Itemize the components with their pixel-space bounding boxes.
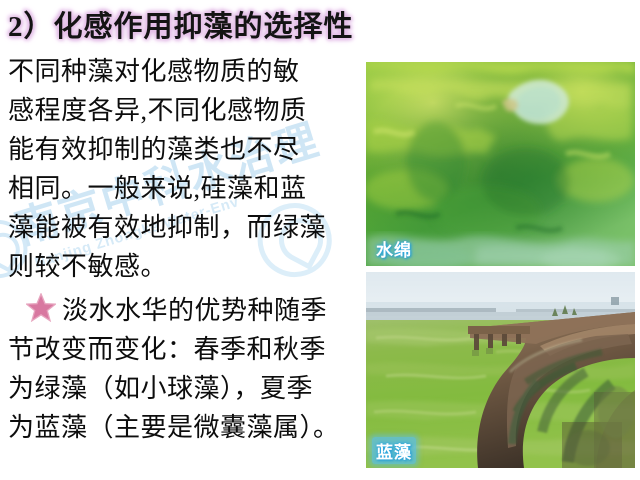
paragraph-two: 淡水水华的优势种随季 节改变而变化：春季和秋季 为绿藻（如小球藻），夏季 为蓝藻… [0,290,360,447]
paragraph-one: 不同种藻对化感物质的敏 感程度各异,不同化感物质 能有效抑制的藻类也不尽 相同。… [0,52,360,286]
paragraph-one-line: 则较不敏感。 [8,252,167,281]
paragraph-two-line: 为绿藻（如小球藻），夏季 [8,374,313,403]
paragraph-one-line: 相同。一般来说,硅藻和蓝 [8,174,307,203]
cyanobacteria-photo-label: 蓝藻 [372,437,416,464]
paragraph-two-first-line: 淡水水华的优势种随季 [8,290,360,330]
title-divider [0,47,640,48]
paragraph-two-line: 节改变而变化：春季和秋季 [8,335,326,364]
paragraph-two-line: 为蓝藻（主要是微囊藻属）。 [8,413,340,442]
cyanobacteria-photo: 蓝藻 [366,272,635,468]
paragraph-one-line: 感程度各异,不同化感物质 [8,96,307,125]
page-title: 2）化感作用抑藻的选择性 [8,3,354,45]
slide-canvas: 南京中科水治理 Nanjing Zhongke Water-Env 2）化感作用… [0,0,640,480]
spirogyra-photo: 水绵 [366,62,635,266]
body-text-column: 不同种藻对化感物质的敏 感程度各异,不同化感物质 能有效抑制的藻类也不尽 相同。… [0,52,360,447]
paragraph-two-line: 淡水水华的优势种随季 [62,296,327,325]
paragraph-one-line: 藻能被有效地抑制，而绿藻 [8,213,326,242]
paragraph-one-line: 能有效抑制的藻类也不尽 [8,135,300,164]
paragraph-one-line: 不同种藻对化感物质的敏 [8,57,300,86]
spirogyra-photo-label: 水绵 [372,235,416,262]
star-bullet-icon [26,293,56,322]
